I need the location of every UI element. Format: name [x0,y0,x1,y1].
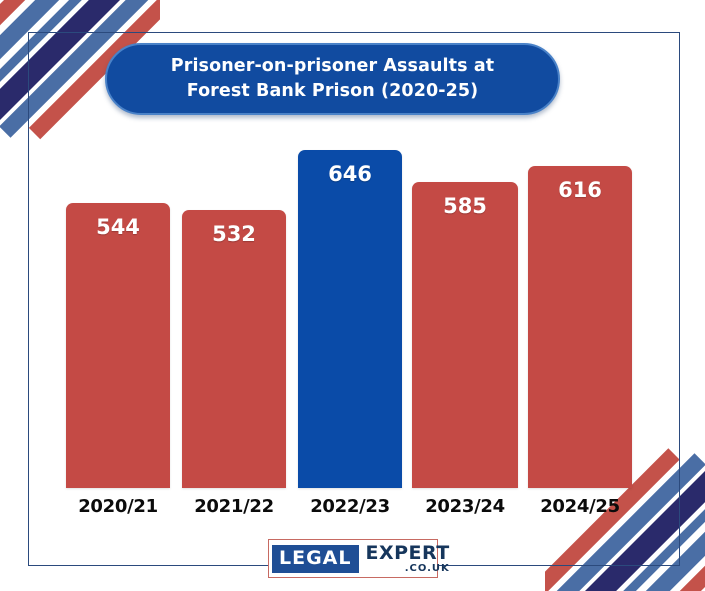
bar-2024-25[interactable] [528,166,632,488]
logo-legal-text: LEGAL [272,545,359,573]
logo-expert-text: EXPERT [366,544,450,563]
bar-group: 6162024/25 [528,0,632,591]
bar-group: 5442020/21 [66,0,170,591]
bar-group: 5852023/24 [412,0,518,591]
bar-group: 6462022/23 [298,0,402,591]
category-label-2021-22: 2021/22 [174,496,294,517]
bar-2021-22[interactable] [182,210,286,488]
bar-value-label: 585 [412,194,518,218]
logo-right-group: EXPERT .CO.UK [359,544,450,574]
bar-value-label: 616 [528,178,632,202]
category-label-2023-24: 2023/24 [404,496,526,517]
category-label-2022-23: 2022/23 [290,496,410,517]
bar-2020-21[interactable] [66,203,170,488]
bar-2023-24[interactable] [412,182,518,488]
logo-domain-text: .CO.UK [366,564,450,574]
bar-chart-plot-area: 5442020/215322021/226462022/235852023/24… [0,0,705,591]
category-label-2020-21: 2020/21 [58,496,178,517]
bar-group: 5322021/22 [182,0,286,591]
bar-2022-23[interactable] [298,150,402,488]
bar-value-label: 544 [66,215,170,239]
bar-value-label: 532 [182,222,286,246]
category-label-2024-25: 2024/25 [520,496,640,517]
infographic-canvas: Prisoner-on-prisoner Assaults at Forest … [0,0,705,591]
bar-value-label: 646 [298,162,402,186]
legal-expert-logo: LEGAL EXPERT .CO.UK [268,539,438,578]
